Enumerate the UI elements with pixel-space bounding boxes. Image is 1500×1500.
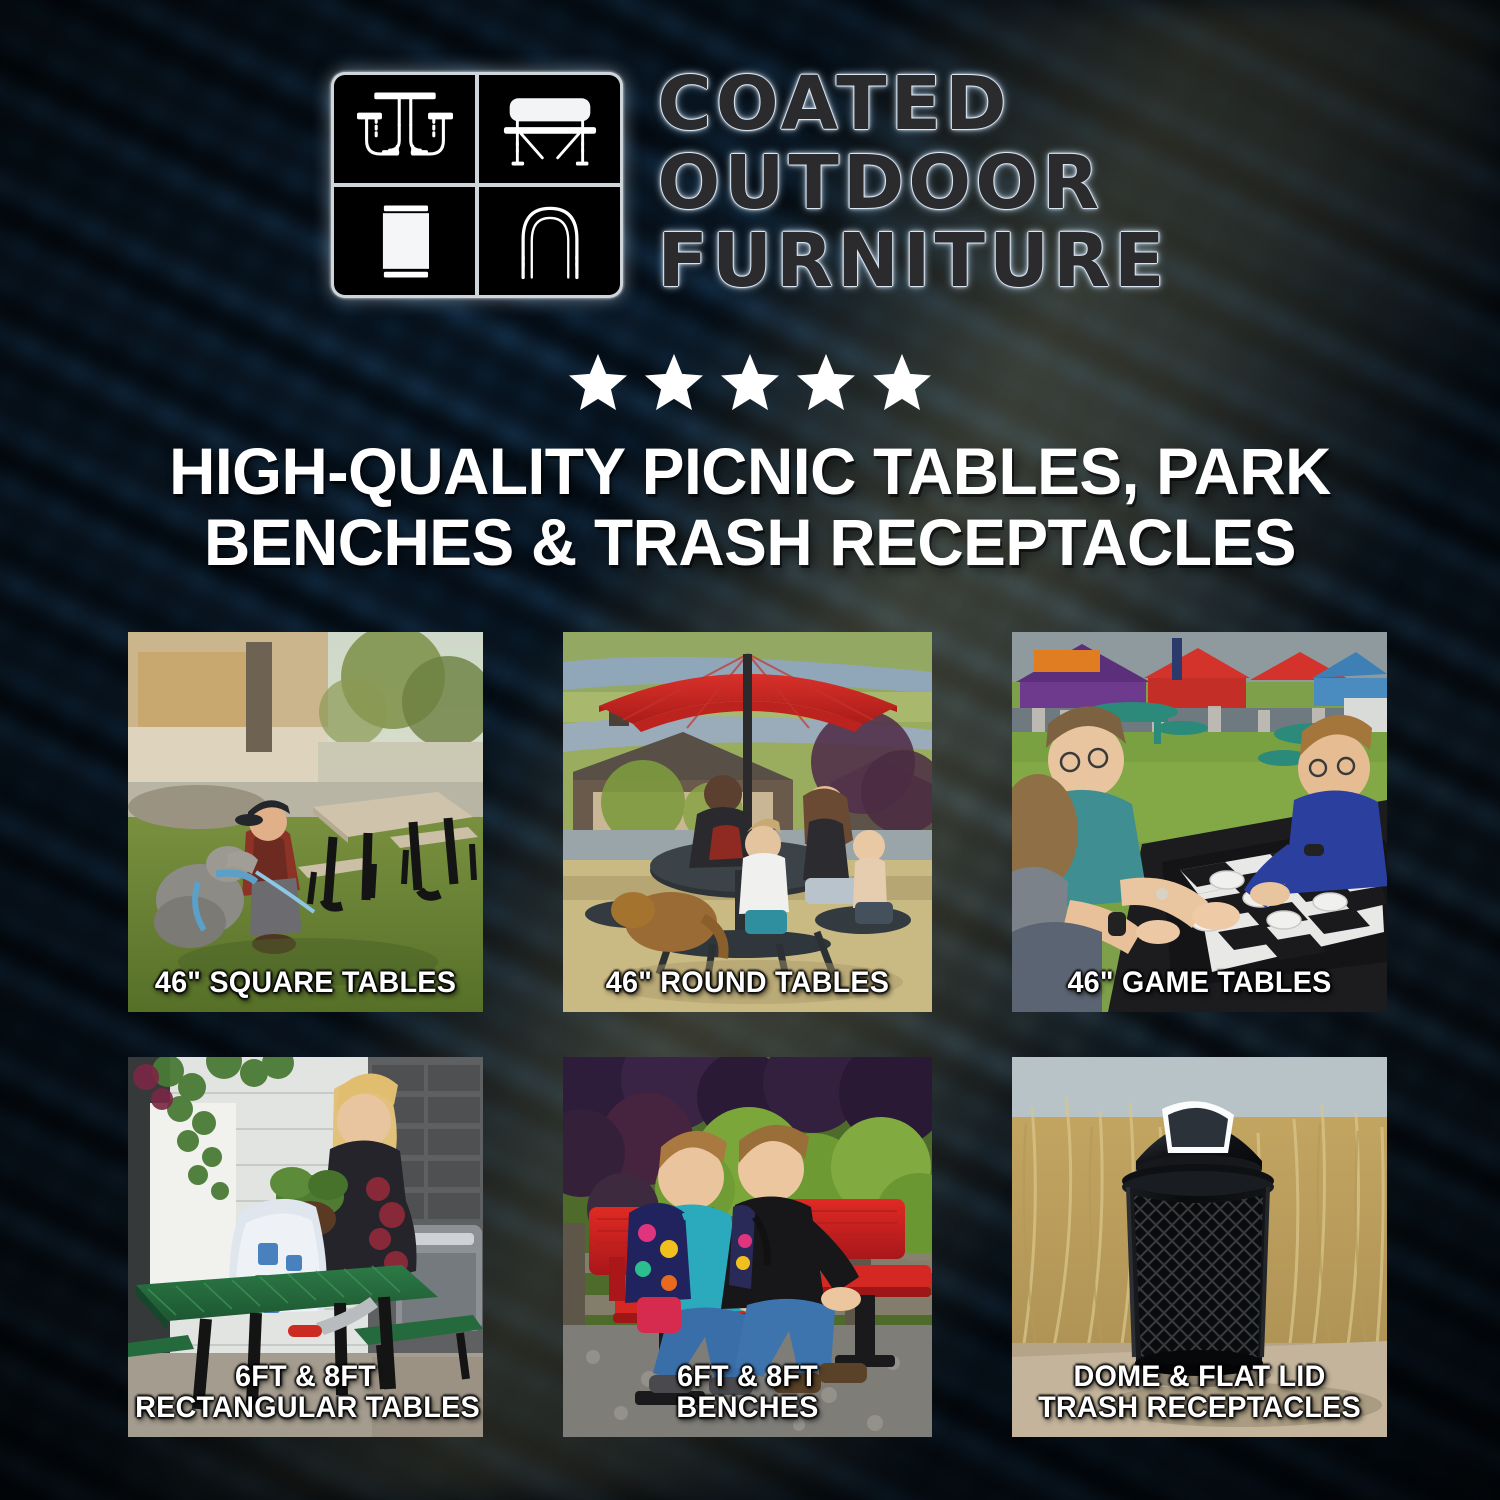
logo-line-3: FURNITURE xyxy=(657,225,1168,298)
brand-logo: COATED OUTDOOR FURNITURE xyxy=(0,72,1500,298)
photo-round-tables xyxy=(563,632,932,1012)
product-tile-rectangular-tables[interactable]: 6FT & 8FT RECTANGULAR TABLES xyxy=(128,1057,483,1437)
caption-benches: 6FT & 8FT BENCHES xyxy=(570,1361,924,1423)
star-icon xyxy=(719,352,781,412)
logo-line-1: COATED xyxy=(657,68,1168,141)
star-rating xyxy=(0,352,1500,412)
logo-line-2: OUTDOOR xyxy=(657,147,1168,220)
caption-line-1: 6FT & 8FT xyxy=(135,1361,476,1392)
trash-receptacle-icon xyxy=(334,187,475,295)
star-icon xyxy=(795,352,857,412)
picnic-table-icon xyxy=(334,75,475,183)
caption-line-2: BENCHES xyxy=(570,1392,924,1423)
star-icon xyxy=(643,352,705,412)
caption-line-1: 46" GAME TABLES xyxy=(1020,967,1380,998)
headline-line-2: BENCHES & TRASH RECEPTACLES xyxy=(81,507,1420,578)
caption-line-1: 46" SQUARE TABLES xyxy=(135,967,476,998)
caption-line-1: 46" ROUND TABLES xyxy=(570,967,924,998)
caption-rectangular-tables: 6FT & 8FT RECTANGULAR TABLES xyxy=(135,1361,476,1423)
product-tile-square-tables[interactable]: 46" SQUARE TABLES xyxy=(128,632,483,1012)
caption-round-tables: 46" ROUND TABLES xyxy=(570,967,924,998)
arch-bike-rack-icon xyxy=(479,187,620,295)
logo-wordmark: COATED OUTDOOR FURNITURE xyxy=(657,68,1168,298)
caption-line-1: DOME & FLAT LID xyxy=(1020,1361,1380,1392)
product-tile-grid: 46" SQUARE TABLES xyxy=(128,632,1375,1437)
caption-line-2: RECTANGULAR TABLES xyxy=(135,1392,476,1423)
logo-icon-grid xyxy=(331,72,623,298)
photo-square-tables xyxy=(128,632,483,1012)
star-icon xyxy=(567,352,629,412)
product-tile-trash-receptacles[interactable]: DOME & FLAT LID TRASH RECEPTACLES xyxy=(1012,1057,1387,1437)
caption-line-1: 6FT & 8FT xyxy=(570,1361,924,1392)
caption-line-2: TRASH RECEPTACLES xyxy=(1020,1392,1380,1423)
caption-game-tables: 46" GAME TABLES xyxy=(1020,967,1380,998)
caption-square-tables: 46" SQUARE TABLES xyxy=(135,967,476,998)
product-tile-round-tables[interactable]: 46" ROUND TABLES xyxy=(563,632,932,1012)
headline-line-1: HIGH-QUALITY PICNIC TABLES, PARK xyxy=(81,436,1420,507)
park-bench-side-icon xyxy=(479,75,620,183)
product-tile-game-tables[interactable]: 46" GAME TABLES xyxy=(1012,632,1387,1012)
star-icon xyxy=(871,352,933,412)
page-title: HIGH-QUALITY PICNIC TABLES, PARK BENCHES… xyxy=(81,436,1420,579)
product-tile-benches[interactable]: 6FT & 8FT BENCHES xyxy=(563,1057,932,1437)
caption-trash-receptacles: DOME & FLAT LID TRASH RECEPTACLES xyxy=(1020,1361,1380,1423)
photo-game-tables xyxy=(1012,632,1387,1012)
